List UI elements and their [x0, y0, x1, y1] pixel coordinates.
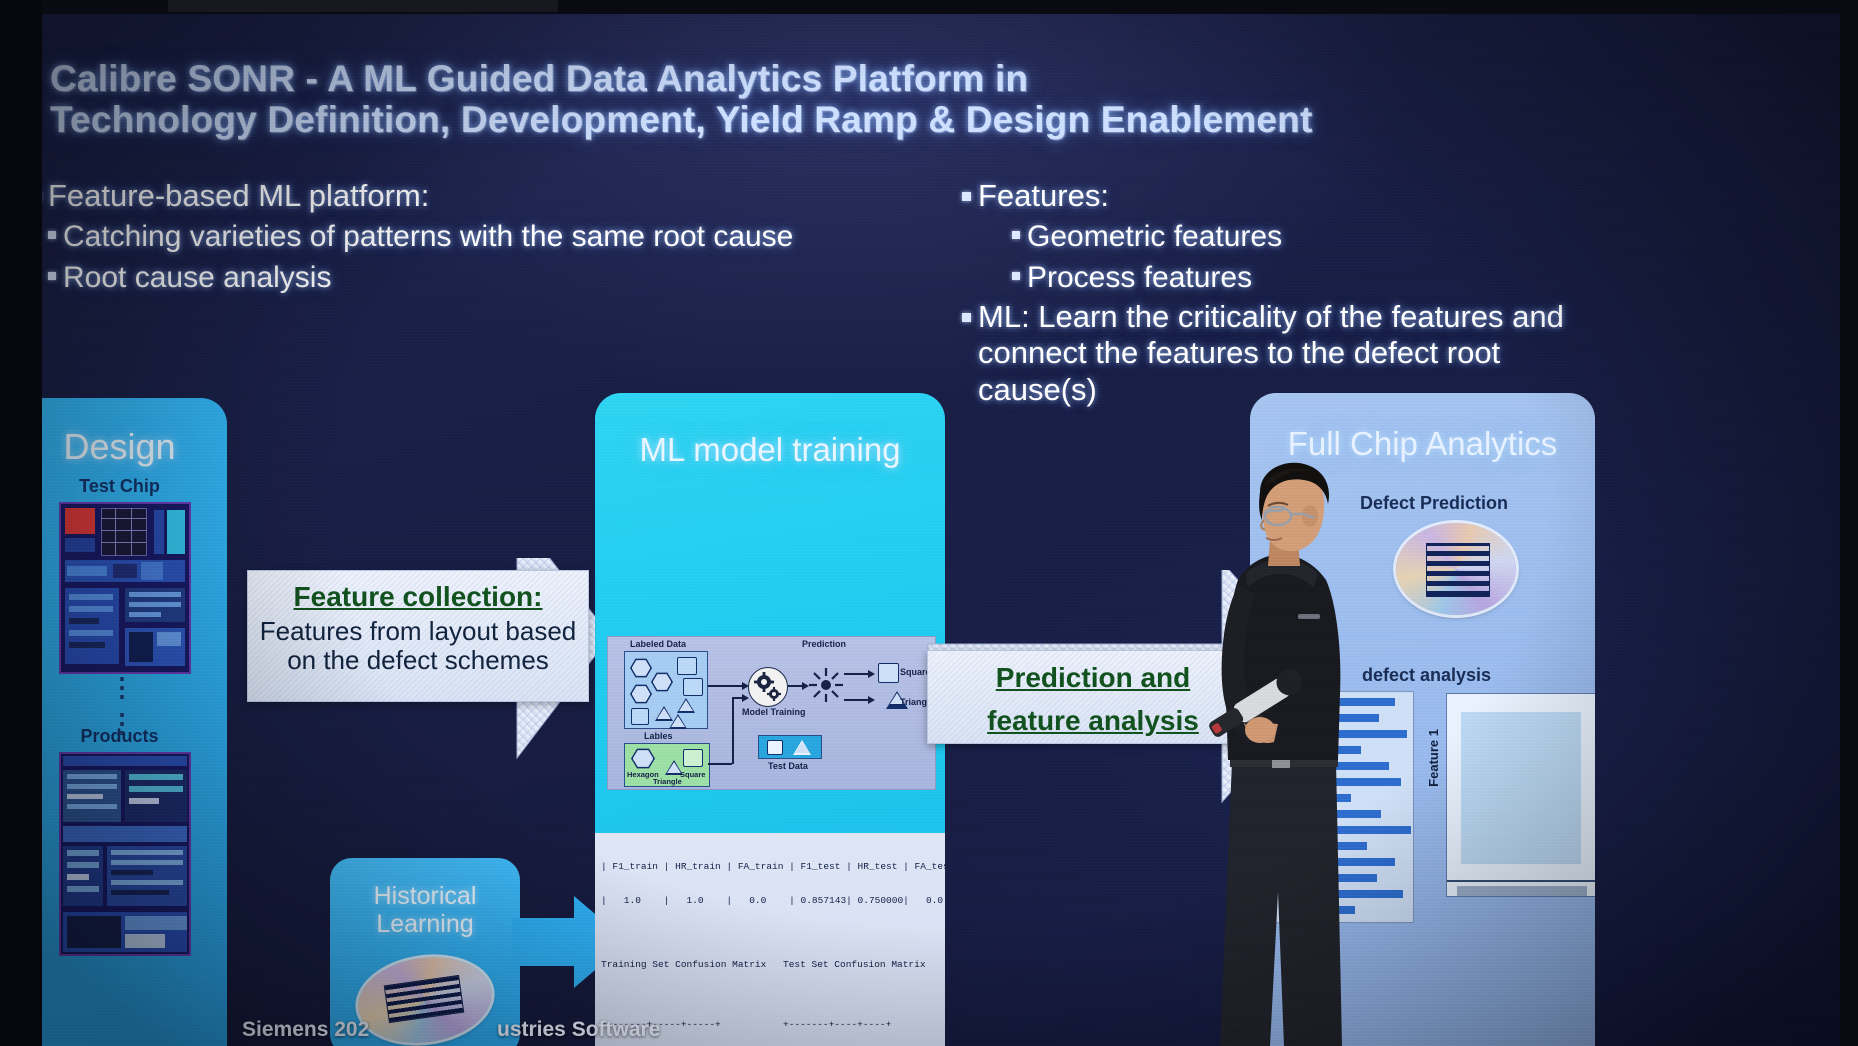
footer-left: Siemens 202: [242, 1018, 369, 1042]
bullet-item: Features:: [962, 178, 1622, 215]
bullet-column-right: Features: Geometric features Process fea…: [962, 178, 1622, 410]
bullet-item: Geometric features: [962, 217, 1622, 256]
bullet-text: ML: Learn the criticality of the feature…: [978, 299, 1622, 409]
bullet-item: Process features: [962, 258, 1622, 297]
train-matrix-caption: Training Set Confusion Matrix: [601, 959, 773, 970]
label-lables: Lables: [644, 731, 673, 741]
bullet-text: Process features: [1027, 258, 1252, 297]
screenshot-stage: Calibre SONR - A ML Guided Data Analytic…: [0, 0, 1858, 1046]
bullet-square-icon: [962, 313, 971, 322]
label-prediction: Prediction: [802, 639, 846, 649]
label-test-chip: Test Chip: [42, 476, 227, 497]
panel-ml-title: ML model training: [595, 431, 945, 469]
label-test-data: Test Data: [768, 761, 808, 771]
bullet-square-icon: [962, 192, 971, 201]
bullet-text: Catching varieties of patterns with the …: [63, 217, 793, 256]
bullet-column-left: Feature-based ML platform: Catching vari…: [42, 178, 832, 299]
bullet-item: Catching varieties of patterns with the …: [42, 217, 832, 256]
metrics-confusion-matrix-table: | F1_train | HR_train | FA_train | F1_te…: [595, 833, 945, 1046]
test-chip-thumbnail: [59, 502, 191, 674]
bullet-text: Root cause analysis: [63, 258, 331, 297]
label-products: Products: [42, 726, 227, 747]
footer-right: ustries Software: [497, 1018, 660, 1042]
panel-design: Design Test Chip: [42, 398, 227, 1046]
feature-plot: [1446, 693, 1595, 897]
products-thumbnail: [59, 752, 191, 956]
labels-box: Hexagon Square Triangle: [624, 743, 710, 787]
bullet-text: Feature-based ML platform:: [48, 178, 429, 215]
presentation-slide: Calibre SONR - A ML Guided Data Analytic…: [42, 10, 1840, 1046]
bullet-text: Features:: [978, 178, 1109, 215]
test-matrix-caption: Test Set Confusion Matrix: [783, 959, 943, 970]
slide-title-line-1: Calibre SONR - A ML Guided Data Analytic…: [50, 58, 1350, 99]
speaker-person: [1186, 462, 1386, 1046]
label-square-legend: Square: [680, 770, 705, 779]
bullet-item: ML: Learn the criticality of the feature…: [962, 299, 1622, 409]
bullet-square-icon: [1012, 272, 1020, 280]
label-labeled-data: Labeled Data: [630, 639, 686, 649]
bullet-item: Root cause analysis: [42, 258, 832, 297]
slide-title-line-2: Technology Definition, Development, Yiel…: [50, 99, 1350, 140]
label-triangle: Triangle: [653, 777, 682, 786]
bullet-item: Feature-based ML platform:: [42, 178, 832, 215]
gear-icon: [748, 667, 788, 707]
ml-workflow-diagram: Labeled Data Lables Hexagon Square: [607, 636, 936, 790]
callout-feature-heading: Feature collection:: [248, 581, 588, 613]
screen-bezel-left: [0, 0, 42, 1046]
test-data-box: [758, 735, 822, 759]
bullet-square-icon: [48, 272, 56, 280]
panel-design-title: Design: [42, 426, 227, 468]
metrics-value-row: | 1.0 | 1.0 | 0.0 | 0.857143| 0.750000| …: [601, 895, 940, 906]
label-model-training: Model Training: [742, 707, 806, 717]
bullet-text: Geometric features: [1027, 217, 1282, 256]
design-dots-separator: ⋮: [109, 680, 129, 694]
labeled-data-box: [624, 651, 708, 729]
prediction-burst-icon: [806, 665, 846, 705]
wafer-map-dies: [1426, 543, 1490, 597]
historical-label-line-2: Learning: [330, 910, 520, 939]
metrics-header-row: | F1_train | HR_train | FA_train | F1_te…: [601, 861, 940, 872]
label-feature-axis: Feature 1: [1426, 729, 1441, 787]
callout-feature-body: Features from layout based on the defect…: [248, 617, 588, 676]
callout-feature-collection: Feature collection: Features from layout…: [247, 570, 589, 702]
historical-label-line-1: Historical: [330, 882, 520, 911]
panel-fullchip-title: Full Chip Analytics: [1250, 425, 1595, 463]
slide-title: Calibre SONR - A ML Guided Data Analytic…: [50, 58, 1350, 141]
screen-bezel-notch: [168, 0, 558, 12]
screen-bezel-right: [1840, 0, 1858, 1046]
bullet-square-icon: [48, 231, 56, 239]
bullet-square-icon: [1012, 231, 1020, 239]
